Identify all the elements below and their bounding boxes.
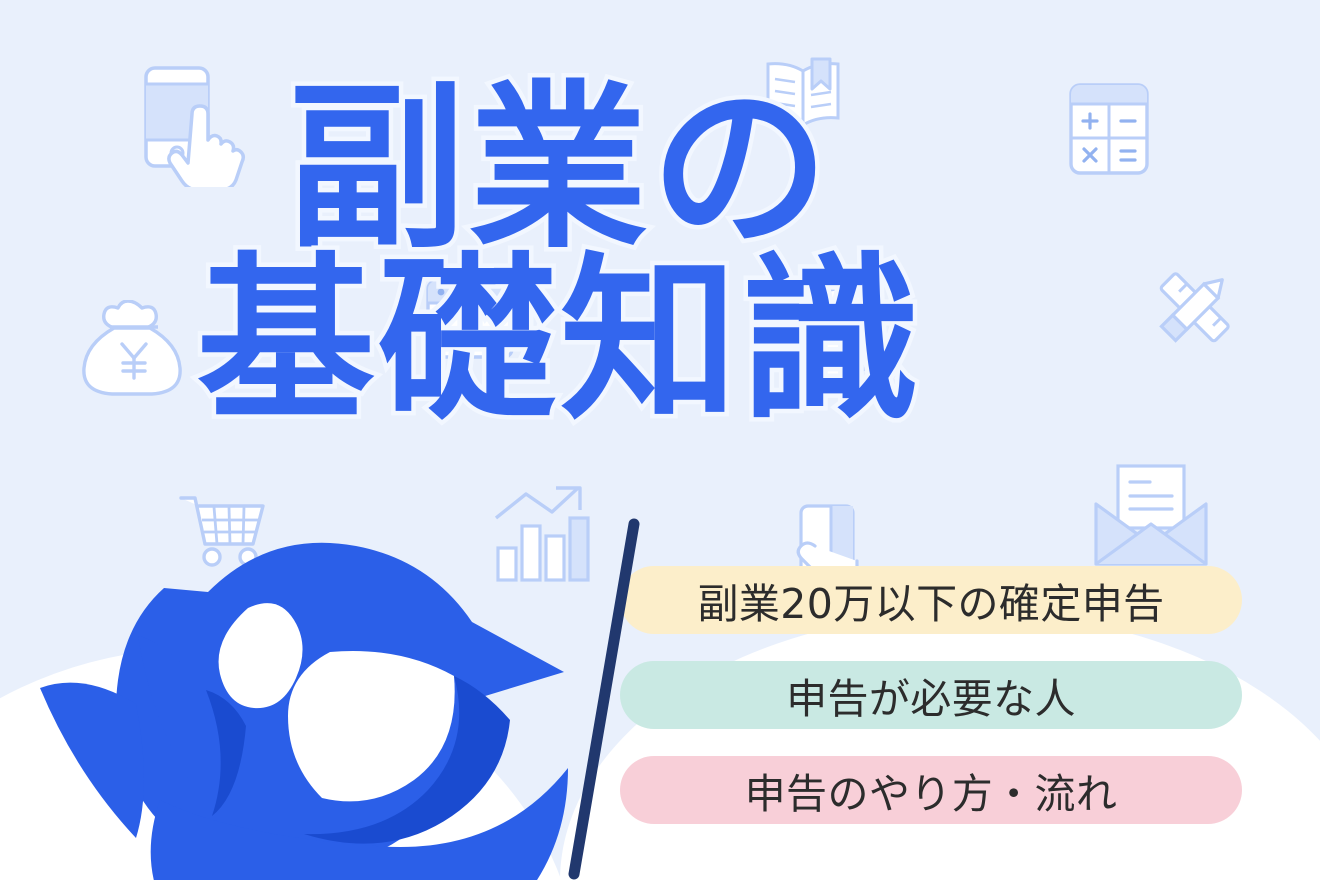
pointer-stick <box>560 518 670 880</box>
topic-pill-2[interactable]: 申告が必要な人 <box>620 661 1242 729</box>
title-line-2: 基礎知識 <box>0 250 1120 432</box>
open-envelope-icon <box>1092 462 1210 570</box>
topic-pill-1-label: 副業20万以下の確定申告 <box>697 570 1164 630</box>
title-line-1: 副業の <box>0 78 1120 260</box>
topic-pill-3[interactable]: 申告のやり方・流れ <box>620 756 1242 824</box>
pencil-ruler-icon <box>1148 262 1240 354</box>
blue-swallow-bird-mascot <box>10 500 650 880</box>
topic-pill-3-label: 申告のやり方・流れ <box>745 760 1118 820</box>
topic-pill-list: 副業20万以下の確定申告 申告が必要な人 申告のやり方・流れ <box>620 566 1242 851</box>
topic-pill-2-label: 申告が必要な人 <box>786 665 1076 725</box>
poster-canvas: 副業の 基礎知識 副業20万以下 <box>0 0 1320 880</box>
topic-pill-1[interactable]: 副業20万以下の確定申告 <box>620 566 1242 634</box>
poster-title: 副業の 基礎知識 <box>0 78 1120 431</box>
